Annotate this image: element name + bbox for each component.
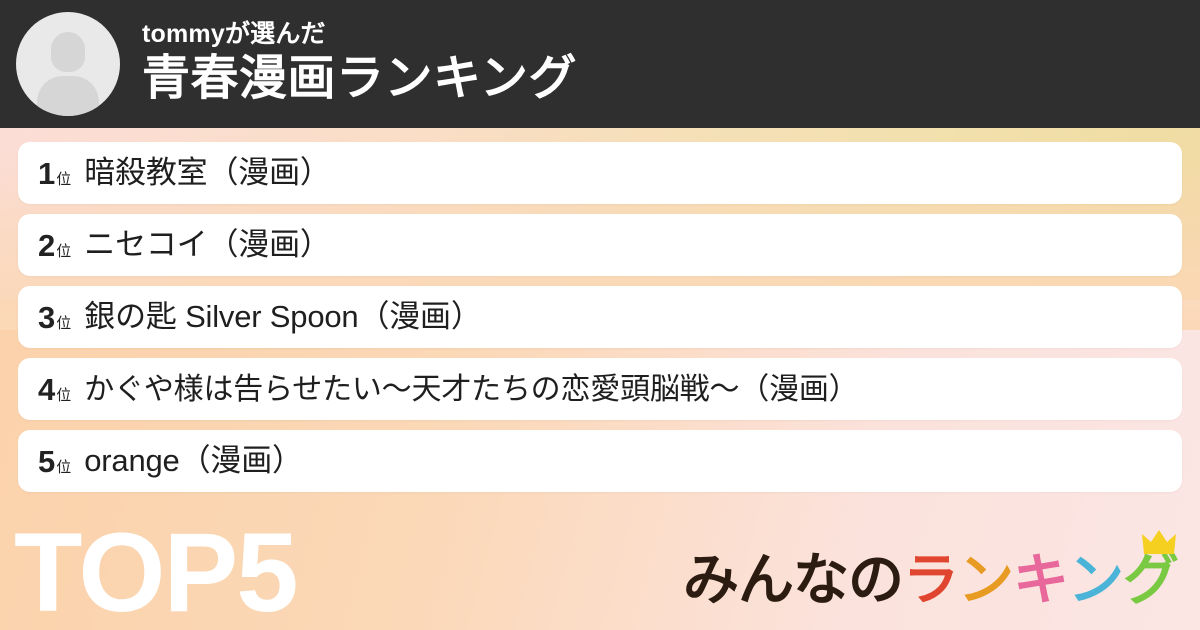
rank-unit: 位 [56, 316, 71, 331]
rank-badge: 1 位 [38, 158, 71, 189]
header-text-group: tommyが選んだ 青春漫画ランキング [142, 20, 577, 107]
header-eyebrow: tommyが選んだ [142, 20, 577, 49]
ranking-item-title: ニセコイ（漫画） [84, 228, 330, 262]
rank-badge: 5 位 [38, 446, 71, 477]
rank-number: 1 [38, 158, 55, 189]
page-title: 青春漫画ランキング [142, 51, 577, 108]
ranking-item-1[interactable]: 1 位 暗殺教室（漫画） [18, 142, 1182, 204]
header-bar: tommyが選んだ 青春漫画ランキング [0, 0, 1200, 128]
ranking-item-title: 暗殺教室（漫画） [84, 156, 330, 190]
avatar-body-shape [37, 76, 99, 116]
rank-unit: 位 [56, 172, 71, 187]
logo-part-n2: ン [1068, 552, 1123, 608]
ranking-item-2[interactable]: 2 位 ニセコイ（漫画） [18, 214, 1182, 276]
rank-badge: 3 位 [38, 302, 71, 333]
rank-number: 3 [38, 302, 55, 333]
rank-unit: 位 [56, 388, 71, 403]
ranking-list: 1 位 暗殺教室（漫画） 2 位 ニセコイ（漫画） 3 位 銀の匙 Silver… [0, 128, 1200, 492]
rank-unit: 位 [56, 244, 71, 259]
logo-part-minnano: みんなの [683, 552, 903, 608]
rank-number: 4 [38, 374, 55, 405]
top5-label: TOP5 [14, 521, 297, 624]
rank-badge: 4 位 [38, 374, 71, 405]
rank-badge: 2 位 [38, 230, 71, 261]
minna-no-ranking-logo[interactable]: みんなの ラ ン キ ン グ [683, 552, 1178, 608]
rank-number: 2 [38, 230, 55, 261]
ranking-item-5[interactable]: 5 位 orange（漫画） [18, 430, 1182, 492]
ranking-item-title: 銀の匙 Silver Spoon（漫画） [84, 300, 481, 334]
logo-part-n1: ン [958, 552, 1013, 608]
crown-icon [1142, 530, 1176, 556]
avatar-head-shape [51, 32, 85, 72]
footer-bar: TOP5 みんなの ラ ン キ ン グ [0, 512, 1200, 630]
ranking-item-3[interactable]: 3 位 銀の匙 Silver Spoon（漫画） [18, 286, 1182, 348]
ranking-item-title: かぐや様は告らせたい〜天才たちの恋愛頭脳戦〜（漫画） [84, 373, 858, 406]
ranking-item-title: orange（漫画） [84, 444, 303, 478]
logo-part-ra: ラ [903, 552, 958, 608]
ranking-item-4[interactable]: 4 位 かぐや様は告らせたい〜天才たちの恋愛頭脳戦〜（漫画） [18, 358, 1182, 420]
rank-number: 5 [38, 446, 55, 477]
logo-part-ki: キ [1013, 552, 1068, 608]
logo-part-gu: グ [1123, 552, 1178, 608]
user-avatar-placeholder-icon [16, 12, 120, 116]
rank-unit: 位 [56, 460, 71, 475]
